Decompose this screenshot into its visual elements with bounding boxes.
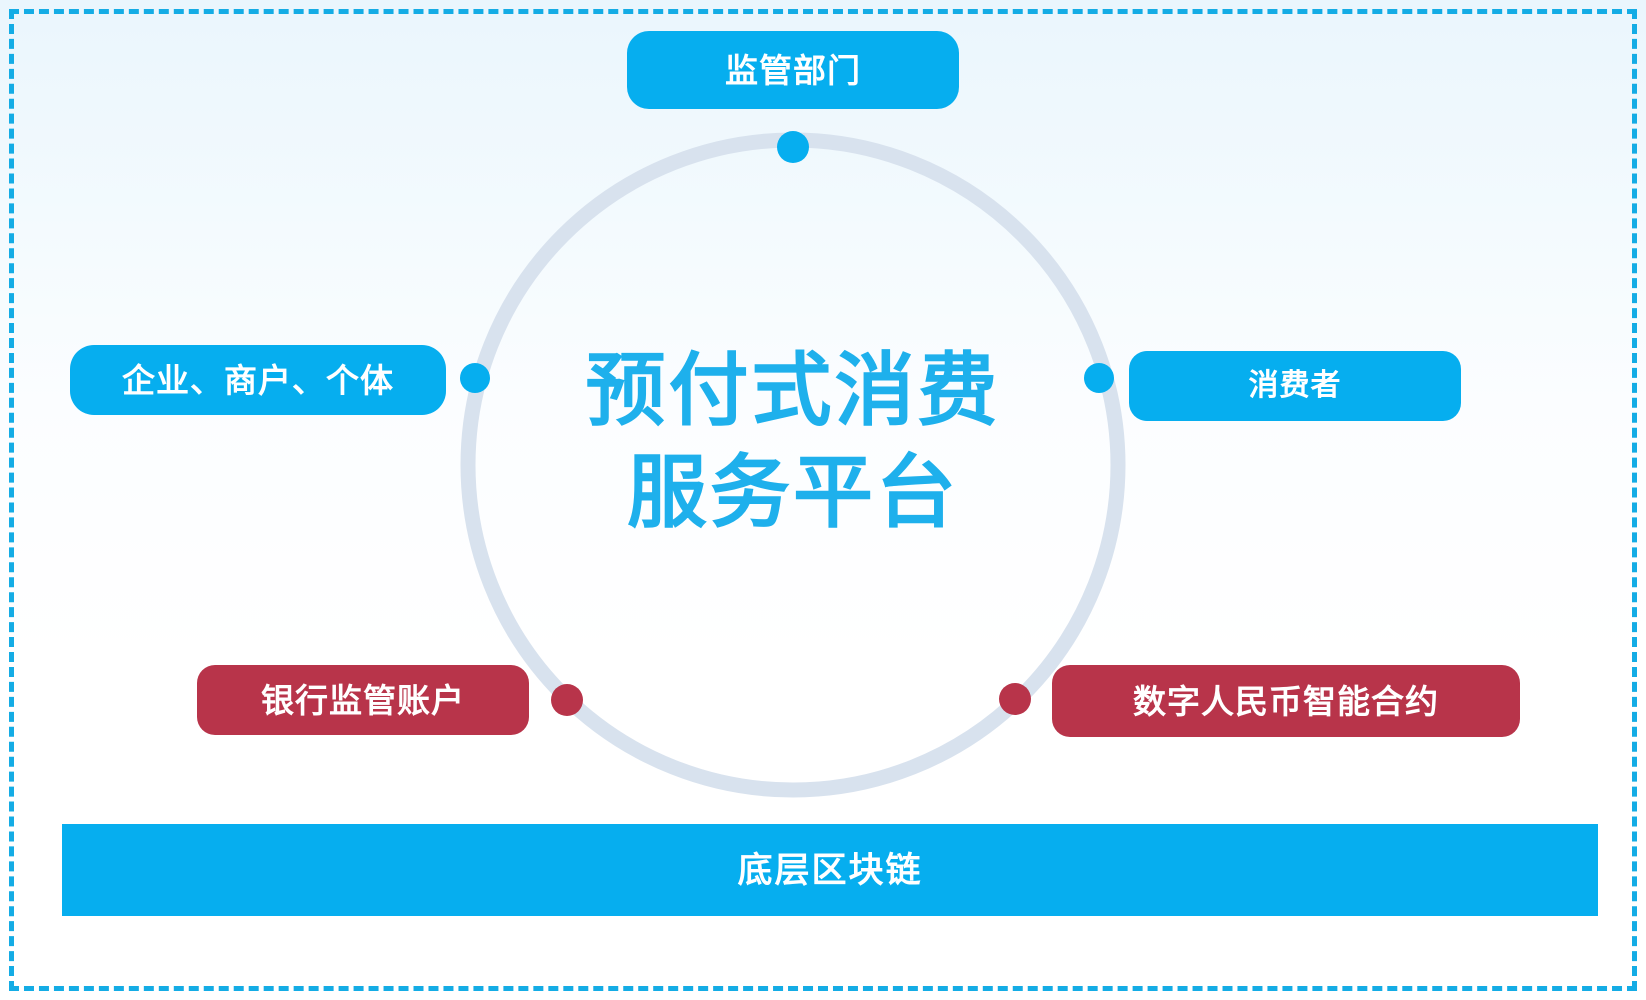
foundation-bar-blockchain[interactable]: 底层区块链 [62,824,1598,916]
foundation-bar-label: 底层区块链 [737,853,922,888]
node-label-regulator[interactable]: 监管部门 [627,31,959,109]
hub-center-title: 预付式消费 服务平台 [493,340,1093,545]
node-label-regulator-text: 监管部门 [725,54,861,87]
node-label-bank-account[interactable]: 银行监管账户 [197,665,529,735]
connector-dot-smart-contract [999,683,1031,715]
node-label-smart-contract[interactable]: 数字人民币智能合约 [1052,665,1520,737]
node-label-consumer[interactable]: 消费者 [1129,351,1461,421]
connector-dot-enterprise [460,363,490,393]
connector-dot-regulator [777,131,809,163]
hub-center-title-line-1: 预付式消费 [493,340,1093,442]
diagram-canvas: 预付式消费 服务平台 监管部门 企业、商户、个体 消费者 银行监管账户 数字人民… [0,0,1646,1000]
hub-center-title-line-2: 服务平台 [493,442,1093,544]
connector-dot-bank-account [551,684,583,716]
node-label-enterprise-text: 企业、商户、个体 [122,364,394,397]
node-label-enterprise[interactable]: 企业、商户、个体 [70,345,446,415]
node-label-consumer-text: 消费者 [1249,371,1342,401]
node-label-smart-contract-text: 数字人民币智能合约 [1133,685,1439,718]
node-label-bank-account-text: 银行监管账户 [261,684,465,717]
